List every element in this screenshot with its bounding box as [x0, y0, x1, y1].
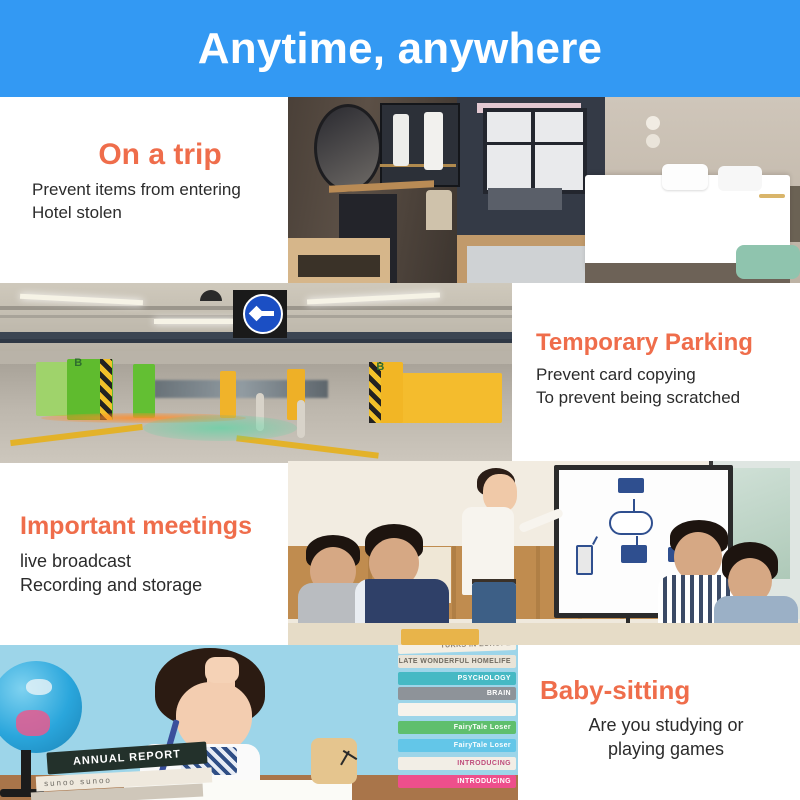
- diagram-arrow: [633, 499, 635, 510]
- diagram-monitor-icon: [621, 545, 647, 563]
- security-camera-icon: [200, 290, 222, 301]
- wooden-clock-icon: [311, 738, 357, 784]
- parking-ceiling-light: [154, 319, 236, 324]
- section-line-1-baby-sitting: Are you studying or: [540, 713, 792, 737]
- section-line-1-important-meetings: live broadcast: [20, 549, 288, 573]
- section-on-a-trip-text: On a trip Prevent items from entering Ho…: [32, 138, 288, 225]
- section-baby-sitting-text: Baby-sitting Are you studying or playing…: [540, 676, 792, 761]
- hotel-pillow: [718, 166, 762, 191]
- hotel-closet-rod: [380, 164, 456, 167]
- globe-landmass: [16, 710, 50, 736]
- parking-green-pillar: [133, 364, 155, 418]
- parking-yellow-wall: [389, 373, 502, 423]
- direction-arrow-sign-icon: [243, 294, 283, 334]
- hotel-nightstand: [736, 245, 800, 279]
- section-line-1-on-a-trip: Prevent items from entering: [32, 179, 288, 202]
- section-line-2-on-a-trip: Hotel stolen: [32, 202, 288, 225]
- hazard-stripe: [100, 359, 112, 420]
- section-important-meetings-text: Important meetings live broadcast Record…: [20, 513, 288, 597]
- book-stack: TURKS IN EUROPE LATE WONDERFUL HOMELIFE …: [398, 645, 518, 800]
- page-title: Anytime, anywhere: [198, 27, 602, 71]
- hotel-radiator: [488, 188, 562, 210]
- meeting-book-stack: [401, 629, 479, 645]
- section-heading-temporary-parking: Temporary Parking: [536, 330, 798, 356]
- parking-beam: [0, 339, 512, 343]
- book-spine: FairyTale Loser: [398, 721, 516, 734]
- child-studying-photo: ANNUAL REPORT sunoo sunoo TURKS IN EUROP…: [0, 645, 518, 800]
- diagram-arrow: [636, 536, 638, 545]
- section-heading-on-a-trip: On a trip: [32, 138, 288, 171]
- book-spine: TURKS IN EUROPE: [398, 645, 516, 654]
- book-spine: FairyTale Loser: [398, 739, 516, 752]
- globe-stand: [21, 750, 31, 793]
- hotel-round-mirror: [314, 104, 382, 192]
- section-line-2-important-meetings: Recording and storage: [20, 573, 288, 597]
- parking-zone-letter: B: [376, 361, 384, 373]
- meeting-table: [288, 623, 800, 645]
- section-line-2-baby-sitting: playing games: [540, 737, 792, 761]
- page-header-banner: Anytime, anywhere: [0, 0, 800, 97]
- hotel-bathrobe: [393, 114, 409, 166]
- book-spine: PSYCHOLOGY: [398, 672, 516, 685]
- infographic-page: Anytime, anywhere On a trip Prevent: [0, 0, 800, 800]
- book-spine: BRAIN: [398, 687, 516, 700]
- diagram-phone-icon: [576, 545, 593, 575]
- hotel-room-photo: [288, 97, 800, 283]
- book-spine: INTRODUCING: [398, 757, 516, 770]
- diagram-arrow: [592, 536, 598, 545]
- section-temporary-parking-text: Temporary Parking Prevent card copying T…: [536, 330, 798, 410]
- section-line-1-temporary-parking: Prevent card copying: [536, 364, 798, 387]
- section-heading-important-meetings: Important meetings: [20, 513, 288, 541]
- parking-bollard: [297, 400, 305, 438]
- hotel-desk-chair: [426, 190, 452, 230]
- book-spine: LATE WONDERFUL HOMELIFE: [398, 655, 516, 668]
- parking-green-pillar: [36, 362, 68, 416]
- hotel-wall-sconce: [646, 116, 660, 130]
- diagram-cloud-icon: [609, 511, 653, 535]
- hotel-pillow: [662, 164, 708, 190]
- child-hand: [205, 657, 239, 683]
- parking-zone-letter: B: [74, 357, 82, 369]
- meeting-room-photo: [288, 461, 800, 645]
- hotel-bathrobe: [424, 112, 443, 170]
- parking-yellow-pillar: [220, 371, 236, 418]
- book-spine: INTRODUCING: [398, 775, 516, 788]
- section-line-2-temporary-parking: To prevent being scratched: [536, 387, 798, 410]
- hotel-window: [483, 108, 587, 194]
- book-spine: [398, 703, 516, 716]
- section-heading-baby-sitting: Baby-sitting: [540, 676, 792, 705]
- parking-garage-photo: B B: [0, 283, 512, 463]
- hotel-bedside-lamp: [759, 194, 785, 198]
- globe-landmass: [26, 679, 52, 695]
- diagram-laptop-icon: [618, 478, 644, 493]
- hotel-bench-shadow: [298, 255, 380, 277]
